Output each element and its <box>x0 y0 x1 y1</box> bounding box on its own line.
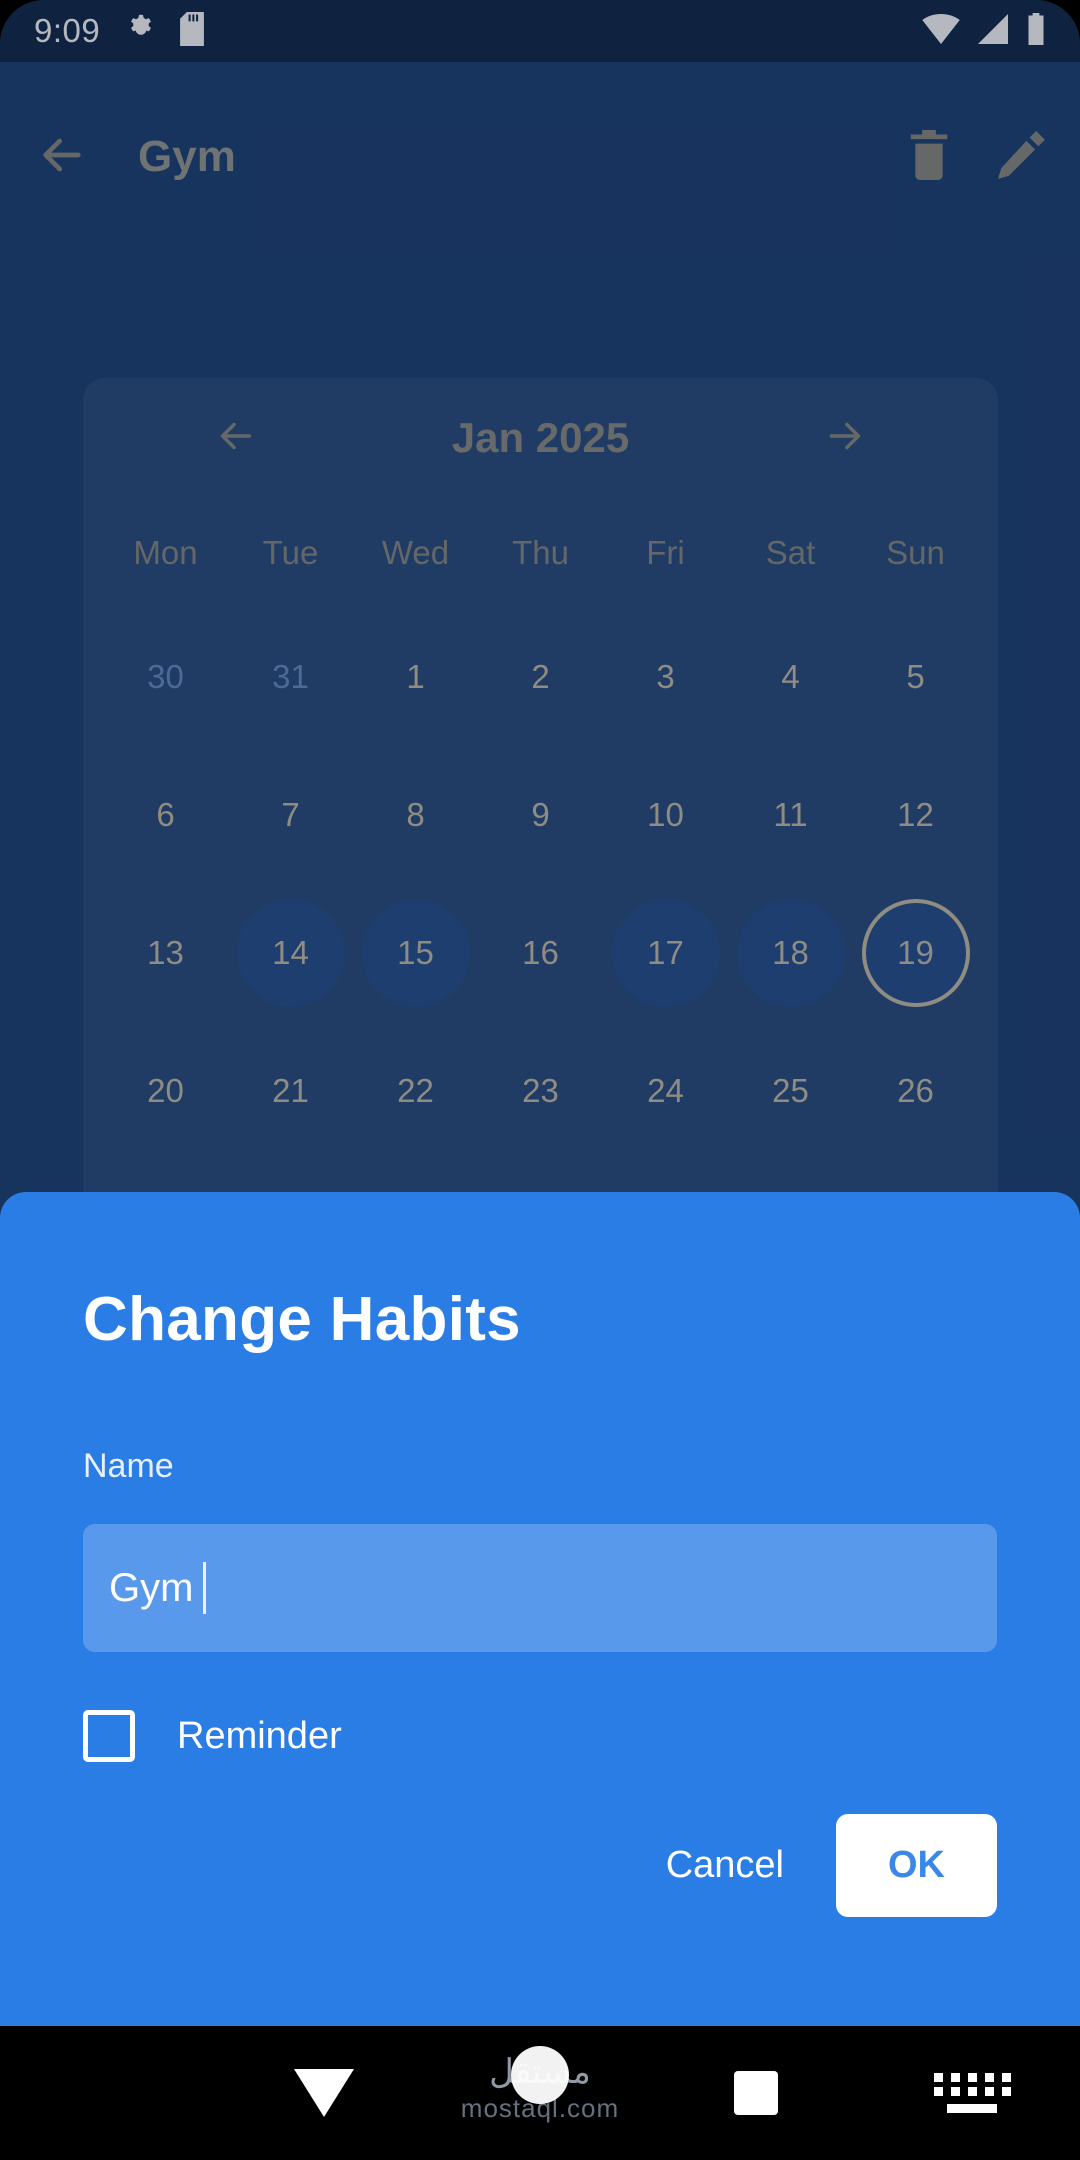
calendar-day-number: 14 <box>272 934 309 972</box>
dialog-actions: Cancel OK <box>83 1814 997 1917</box>
reminder-label: Reminder <box>177 1715 342 1758</box>
calendar-day-number: 12 <box>897 796 934 834</box>
name-field-label: Name <box>83 1447 997 1486</box>
nav-recents-button[interactable] <box>648 2071 864 2115</box>
calendar-day-number: 22 <box>397 1072 434 1110</box>
change-habits-dialog: Change Habits Name Gym Reminder Cancel O… <box>0 1192 1080 2026</box>
calendar-day-number: 7 <box>281 796 299 834</box>
dialog-title: Change Habits <box>83 1284 997 1355</box>
keyboard-switch-icon <box>934 2073 1011 2113</box>
calendar-day-number: 25 <box>772 1072 809 1110</box>
nav-keyboard-switch-button[interactable] <box>864 2073 1080 2113</box>
text-cursor <box>203 1562 206 1614</box>
calendar-day-number: 3 <box>656 658 674 696</box>
triangle-down-icon <box>294 2069 354 2117</box>
calendar-day-number: 5 <box>906 658 924 696</box>
phone-screen: 9:09 <box>0 0 1080 2160</box>
ok-button[interactable]: OK <box>836 1814 997 1917</box>
nav-back-button[interactable] <box>216 2069 432 2117</box>
name-input-value: Gym <box>109 1566 193 1611</box>
calendar-day-number: 24 <box>647 1072 684 1110</box>
calendar-day-number: 11 <box>773 796 807 834</box>
home-circle-overlay <box>511 2046 569 2104</box>
calendar-day-number: 17 <box>647 934 684 972</box>
calendar-day-number: 21 <box>272 1072 309 1110</box>
calendar-day-number: 8 <box>406 796 424 834</box>
calendar-day-number: 9 <box>531 796 549 834</box>
calendar-day-number: 16 <box>522 934 559 972</box>
calendar-day-number: 1 <box>406 658 424 696</box>
calendar-day-number: 15 <box>397 934 434 972</box>
calendar-day-number: 26 <box>897 1072 934 1110</box>
reminder-row[interactable]: Reminder <box>83 1710 997 1762</box>
calendar-day-number: 31 <box>272 658 309 696</box>
calendar-day-number: 4 <box>781 658 799 696</box>
cancel-button[interactable]: Cancel <box>636 1822 814 1909</box>
calendar-day-number: 30 <box>147 658 184 696</box>
reminder-checkbox[interactable] <box>83 1710 135 1762</box>
name-input[interactable]: Gym <box>83 1524 997 1652</box>
square-icon <box>734 2071 778 2115</box>
calendar-day-number: 2 <box>531 658 549 696</box>
today-ring <box>862 899 970 1007</box>
calendar-day-number: 20 <box>147 1072 184 1110</box>
calendar-day-number: 13 <box>147 934 184 972</box>
calendar-day-number: 23 <box>522 1072 559 1110</box>
calendar-day-number: 18 <box>772 934 809 972</box>
calendar-day-number: 6 <box>156 796 174 834</box>
calendar-day-number: 10 <box>647 796 684 834</box>
